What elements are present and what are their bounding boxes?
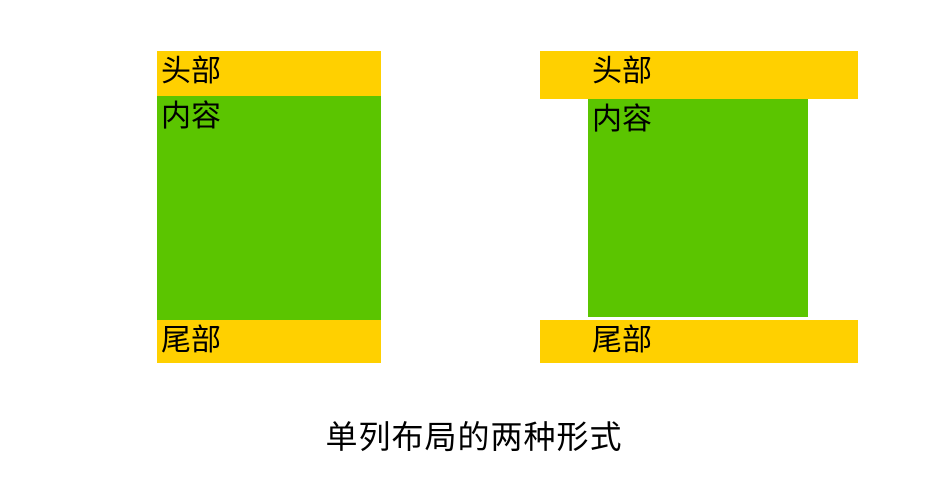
diagram-b-content-label: 内容 — [588, 99, 808, 135]
diagram-caption: 单列布局的两种形式 — [0, 415, 948, 459]
diagram-b-footer-label: 尾部 — [540, 320, 858, 356]
diagram-b-header-block: 头部 — [540, 51, 858, 99]
diagram-canvas: 头部 内容 尾部 头部 内容 尾部 单列布局的两种形式 — [0, 0, 948, 488]
diagram-wide-header-footer-single-column: 头部 内容 尾部 — [0, 0, 948, 400]
diagram-b-content-block: 内容 — [588, 99, 808, 317]
diagram-b-footer-block: 尾部 — [540, 320, 858, 363]
diagram-b-header-label: 头部 — [540, 51, 858, 87]
